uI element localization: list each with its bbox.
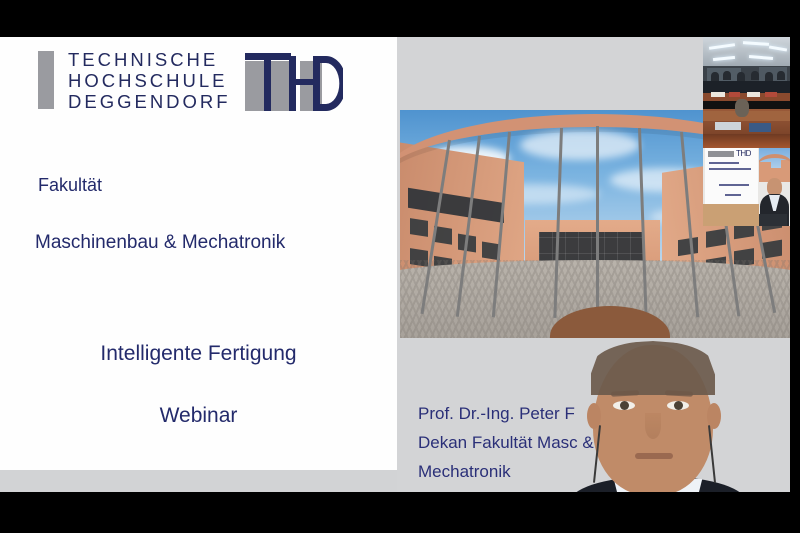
faculty-name: Maschinenbau & Mechatronik <box>35 232 285 254</box>
letterbox-bottom <box>0 492 800 533</box>
logo-line-3: DEGGENDORF <box>68 91 231 112</box>
thd-monogram <box>243 49 343 113</box>
faculty-label: Fakultät <box>38 175 102 196</box>
logo-line-2: HOCHSCHULE <box>68 70 228 91</box>
logo-wordmark: TECHNISCHEHOCHSCHULEDEGGENDORF <box>68 49 231 112</box>
presenter-hair <box>591 341 715 395</box>
video-call-stage: TECHNISCHEHOCHSCHULEDEGGENDORF Fakultät … <box>0 0 800 533</box>
letterbox-right <box>790 0 800 533</box>
slide-subtitle: Webinar <box>0 404 397 428</box>
monogram-letterforms <box>243 49 343 113</box>
slide-title: Intelligente Fertigung <box>0 342 397 366</box>
letterbox-top <box>0 0 800 37</box>
presenter-video-overlay[interactable] <box>565 337 750 492</box>
presentation-slide: TECHNISCHEHOCHSCHULEDEGGENDORF Fakultät … <box>0 37 397 470</box>
lecture-hall-camera[interactable] <box>703 37 790 134</box>
presenter-room-camera[interactable]: THD <box>703 134 790 226</box>
thd-logo: TECHNISCHEHOCHSCHULEDEGGENDORF <box>38 47 343 117</box>
logo-line-1: TECHNISCHE <box>68 49 218 70</box>
logo-left-bar <box>38 51 54 109</box>
shared-screen-canvas: TECHNISCHEHOCHSCHULEDEGGENDORF Fakultät … <box>0 37 790 492</box>
